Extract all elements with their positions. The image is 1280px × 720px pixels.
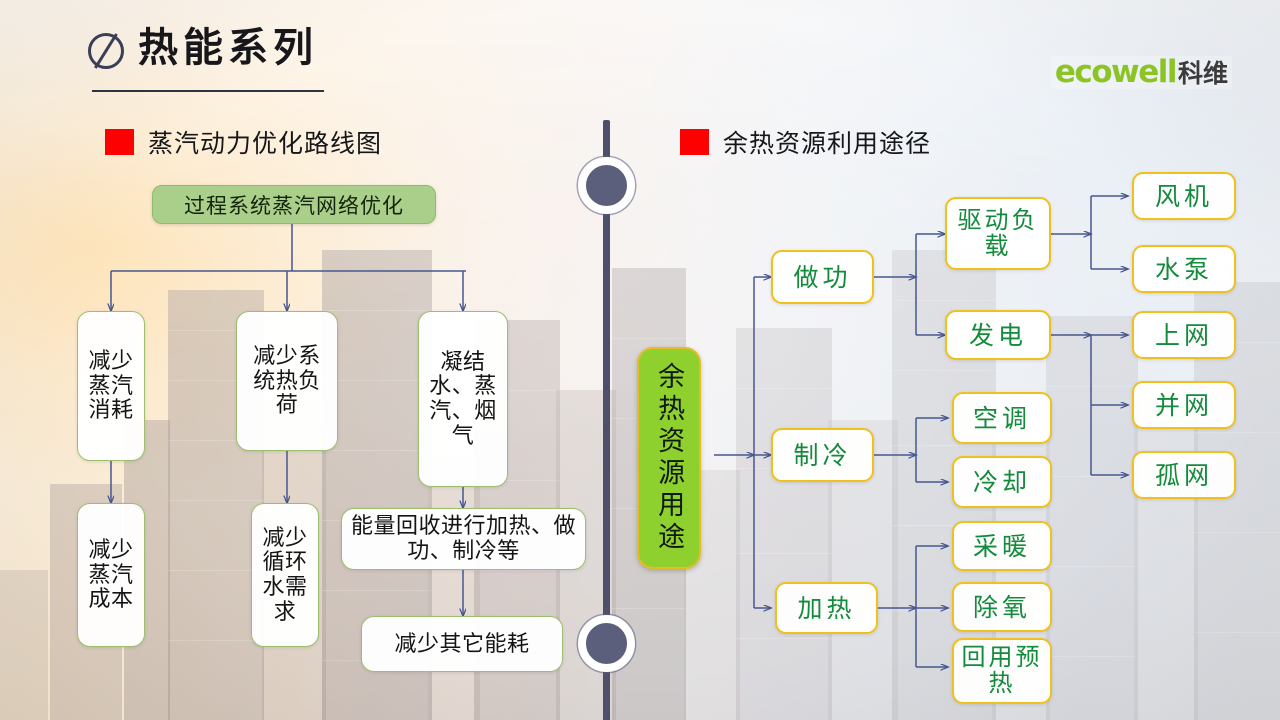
left-flow-node-label: 能量回收进行加热、做功、制冷等 <box>348 514 579 563</box>
left-flow-node-reduce-cooling-water[interactable]: 减少循环水需求 <box>251 503 319 647</box>
center-node-waste-heat-uses[interactable]: 余热资源用途 <box>637 347 701 569</box>
right-tree-node-bingwang[interactable]: 并网 <box>1132 381 1236 429</box>
right-tree-node-zhileng[interactable]: 制冷 <box>771 428 874 482</box>
center-node-label: 余热资源用途 <box>655 362 683 554</box>
right-tree-node-guwang[interactable]: 孤网 <box>1132 451 1236 499</box>
left-flow-node-label: 减少循环水需求 <box>258 526 312 625</box>
right-tree-node-fadian[interactable]: 发电 <box>945 310 1051 360</box>
right-tree-node-label: 风机 <box>1155 183 1213 210</box>
right-tree-node-label: 采暖 <box>973 533 1031 560</box>
right-tree-node-label: 制冷 <box>793 442 851 469</box>
page-title-row: 热能系列 <box>88 28 318 68</box>
section-header-right: 余热资源利用途径 <box>680 124 931 160</box>
circle-slash-icon <box>88 33 124 69</box>
slide-canvas: 热能系列 ecowell 科维 蒸汽动力优化路线图 余热资源利用途径 <box>0 0 1280 720</box>
left-flow-node-label: 减少其它能耗 <box>394 632 529 657</box>
left-flow-node-reduce-steam-use[interactable]: 减少蒸汽消耗 <box>77 311 145 461</box>
timeline-node-top <box>578 157 635 214</box>
right-tree-node-label: 加热 <box>797 595 855 622</box>
brand-logo-chinese: 科维 <box>1178 62 1228 87</box>
left-flow-node-energy-recovery[interactable]: 能量回收进行加热、做功、制冷等 <box>341 508 586 570</box>
right-tree-node-lengque[interactable]: 冷却 <box>952 456 1052 508</box>
right-tree-node-zuogong[interactable]: 做功 <box>771 250 874 304</box>
right-tree-node-label: 驱动负载 <box>947 208 1049 260</box>
right-tree-node-label: 除氧 <box>973 594 1031 621</box>
left-flow-node-label: 减少蒸汽成本 <box>84 538 138 612</box>
right-tree-node-cainuan[interactable]: 采暖 <box>952 521 1052 571</box>
right-tree-node-chuyang[interactable]: 除氧 <box>952 582 1052 632</box>
right-tree-node-label: 水泵 <box>1155 256 1213 283</box>
right-tree-node-label: 冷却 <box>973 469 1031 496</box>
right-tree-node-label: 空调 <box>973 405 1031 432</box>
right-tree-node-label: 上网 <box>1155 322 1213 349</box>
section-header-right-label: 余热资源利用途径 <box>723 124 931 160</box>
section-header-left: 蒸汽动力优化路线图 <box>105 124 382 160</box>
left-flow-node-label: 减少蒸汽消耗 <box>84 349 138 423</box>
right-tree-node-label: 并网 <box>1155 392 1213 419</box>
right-tree-node-qudong-fuzai[interactable]: 驱动负载 <box>945 197 1051 270</box>
right-tree-node-fengji[interactable]: 风机 <box>1132 172 1236 220</box>
right-tree-node-shangwang[interactable]: 上网 <box>1132 311 1236 359</box>
left-flow-node-reduce-other-energy[interactable]: 减少其它能耗 <box>361 616 563 672</box>
left-flow-root-label: 过程系统蒸汽网络优化 <box>184 190 404 220</box>
red-square-marker-icon <box>105 129 134 155</box>
left-flow-node-reduce-steam-cost[interactable]: 减少蒸汽成本 <box>77 503 145 647</box>
right-tree-node-shuibeng[interactable]: 水泵 <box>1132 245 1236 293</box>
page-title: 热能系列 <box>138 28 318 68</box>
brand-logo-latin: ecowell <box>1055 57 1176 88</box>
right-tree-node-label: 孤网 <box>1155 462 1213 489</box>
left-flow-root-box[interactable]: 过程系统蒸汽网络优化 <box>152 185 436 224</box>
red-square-marker-icon <box>680 129 709 155</box>
left-flow-node-condensate-steam-fluegas[interactable]: 凝结水、蒸汽、烟气 <box>418 311 508 487</box>
left-flow-node-label: 减少系统热负荷 <box>243 344 331 418</box>
right-tree-node-label: 发电 <box>969 322 1027 349</box>
timeline-node-bottom <box>578 615 635 672</box>
right-tree-node-kongtiao[interactable]: 空调 <box>952 392 1052 444</box>
right-tree-node-jiare[interactable]: 加热 <box>775 582 878 634</box>
left-flow-node-reduce-heat-load[interactable]: 减少系统热负荷 <box>236 311 338 451</box>
title-underline-divider <box>92 90 324 92</box>
brand-logo: ecowell 科维 <box>1051 56 1232 89</box>
right-tree-node-label: 做功 <box>793 264 851 291</box>
left-flow-node-label: 凝结水、蒸汽、烟气 <box>425 350 501 449</box>
section-header-left-label: 蒸汽动力优化路线图 <box>148 124 382 160</box>
right-tree-node-label: 回用预热 <box>954 645 1050 697</box>
right-tree-node-huiyong-yure[interactable]: 回用预热 <box>952 638 1052 704</box>
